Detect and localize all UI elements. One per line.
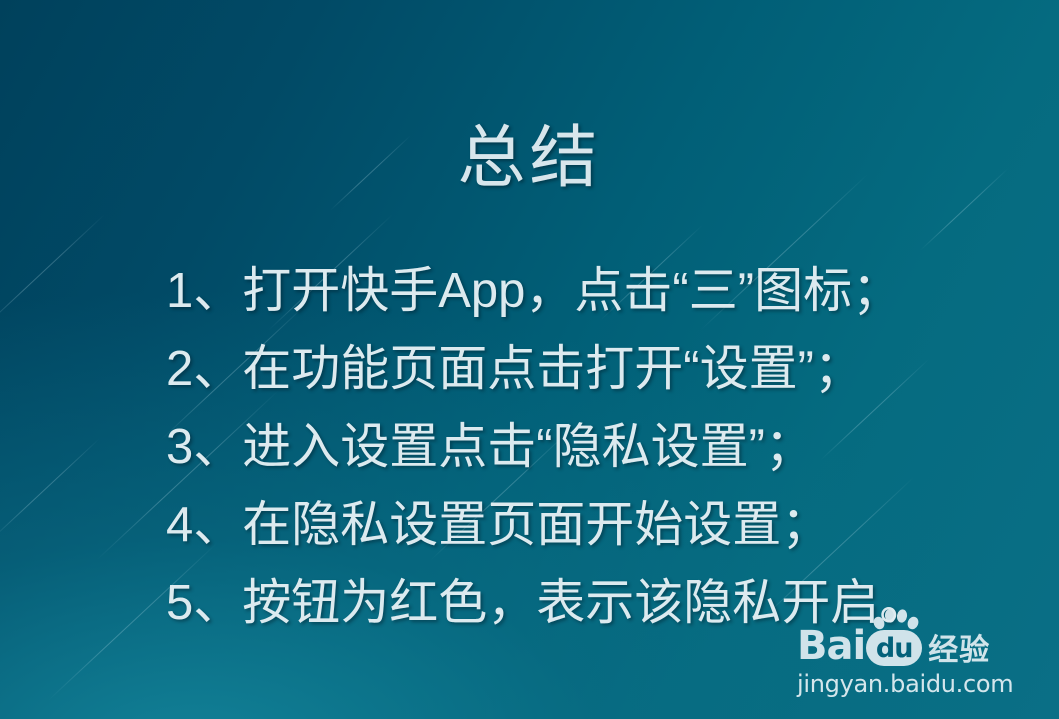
list-item: 3、进入设置点击“隐私设置”；	[166, 408, 986, 486]
page-title: 总结	[0, 122, 1059, 195]
watermark-du-badge: du	[866, 630, 922, 666]
background-streak	[0, 438, 100, 541]
bear-paw-icon	[873, 609, 919, 631]
watermark-url: jingyan.baidu.com	[797, 671, 1007, 697]
presentation-slide: 总结 1、打开快手App，点击“三”图标； 2、在功能页面点击打开“设置”； 3…	[0, 0, 1059, 719]
summary-step-list: 1、打开快手App，点击“三”图标； 2、在功能页面点击打开“设置”； 3、进入…	[166, 252, 986, 642]
list-item: 2、在功能页面点击打开“设置”；	[166, 330, 986, 408]
watermark-logo-row: Bai du 经验	[797, 622, 1007, 666]
background-streak	[0, 214, 105, 331]
list-item: 1、打开快手App，点击“三”图标；	[166, 252, 986, 330]
baidu-jingyan-watermark: Bai du 经验 jingyan.baidu.com	[797, 622, 1007, 697]
list-item: 4、在隐私设置页面开始设置；	[166, 486, 986, 564]
watermark-du-text: du	[876, 635, 913, 662]
watermark-bai-text: Bai	[797, 626, 865, 666]
watermark-jingyan-text: 经验	[928, 636, 990, 666]
